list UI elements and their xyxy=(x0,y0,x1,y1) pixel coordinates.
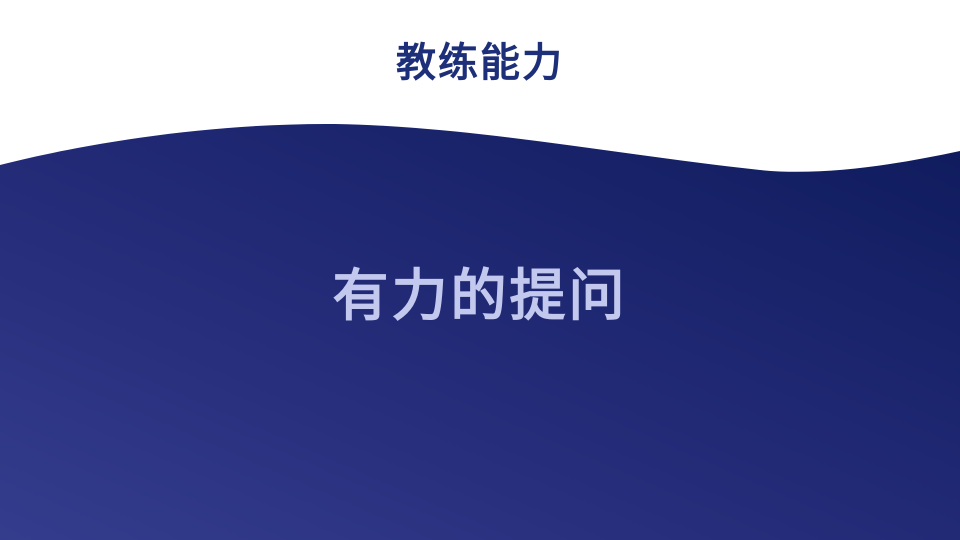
main-heading: 有力的提问 xyxy=(0,265,960,327)
slide-canvas: 教练能力 有力的提问 xyxy=(0,0,960,540)
wave-path xyxy=(0,124,960,540)
page-title: 教练能力 xyxy=(0,40,960,86)
